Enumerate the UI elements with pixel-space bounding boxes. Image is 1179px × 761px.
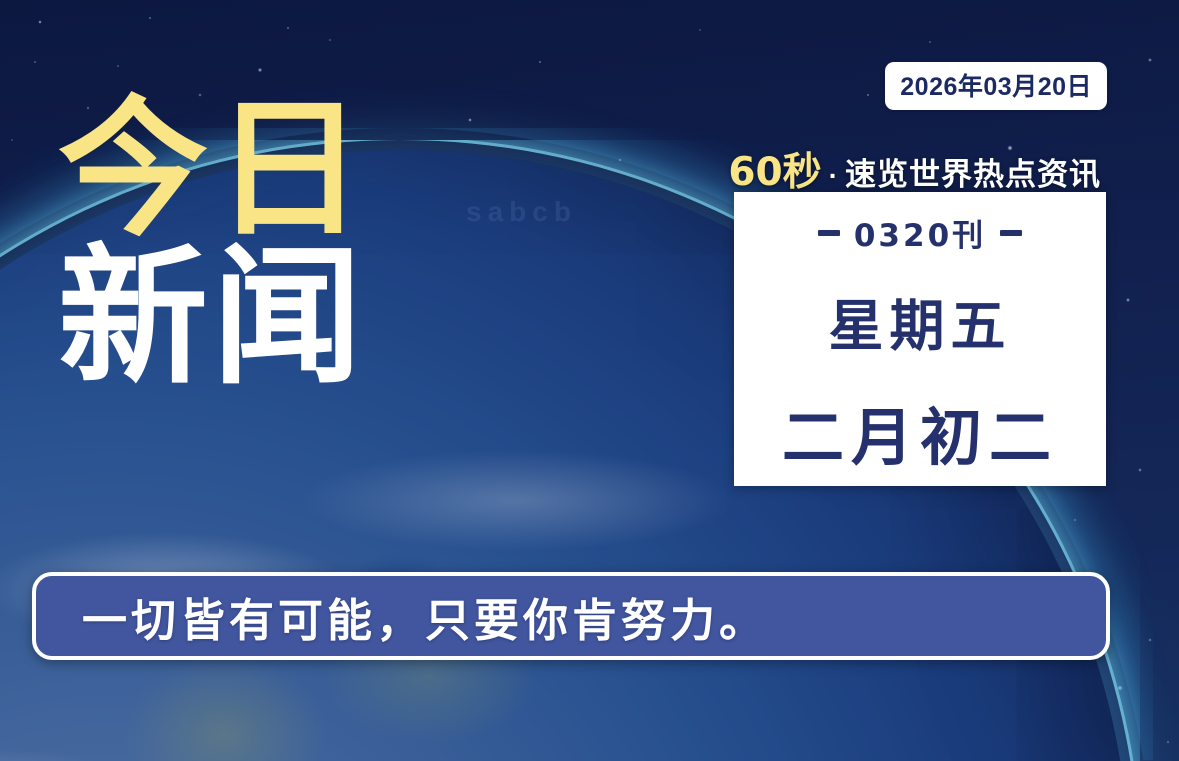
issue-card: 0320刊 星期五 二月初二 [734, 192, 1106, 486]
subtitle-tagline: 速览世界热点资讯 [845, 149, 1101, 194]
news-poster: sabcb 今日 新闻 2026年03月20日 60秒 · 速览世界热点资讯 0… [0, 0, 1179, 761]
issue-number: 0320刊 [854, 210, 986, 255]
dash-left-icon [818, 230, 840, 236]
issue-number-row: 0320刊 [818, 210, 1022, 255]
background-watermark: sabcb [466, 196, 577, 228]
subtitle-separator-dot: · [826, 160, 841, 192]
subtitle-seconds: 60秒 [728, 141, 821, 197]
lunar-date-label: 二月初二 [782, 387, 1058, 477]
dash-right-icon [1000, 230, 1022, 236]
subtitle-row: 60秒 · 速览世界热点资讯 [728, 141, 1101, 197]
poster-title: 今日 新闻 [58, 96, 370, 392]
title-line-news: 新闻 [58, 244, 370, 392]
date-badge: 2026年03月20日 [885, 62, 1107, 110]
title-line-today: 今日 [58, 96, 370, 244]
weekday-label: 星期五 [828, 281, 1011, 361]
quote-banner: 一切皆有可能，只要你肯努力。 [32, 572, 1110, 660]
quote-text: 一切皆有可能，只要你肯努力。 [82, 584, 768, 649]
